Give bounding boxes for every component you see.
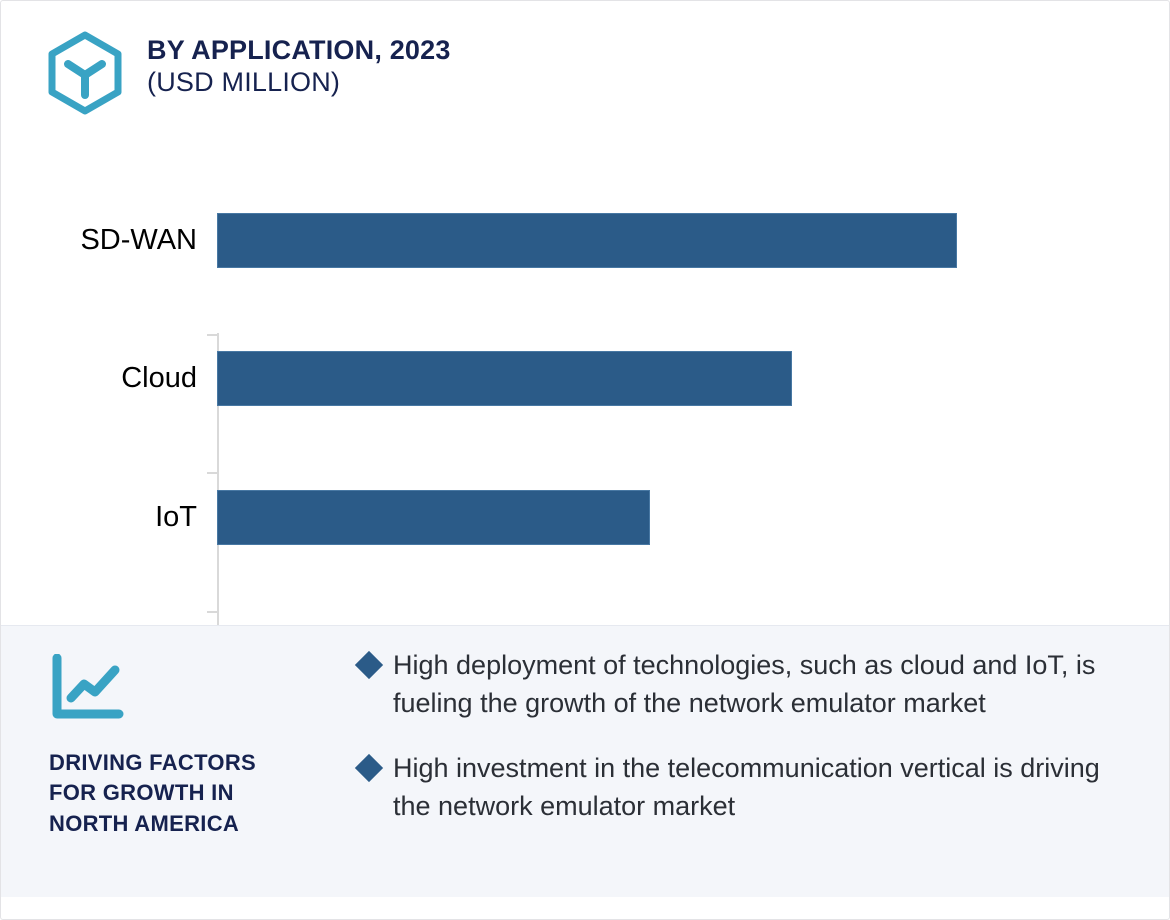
driving-factors-panel: DRIVING FACTORS FOR GROWTH IN NORTH AMER… xyxy=(1,625,1170,897)
panel-title-line-1: FOR GROWTH IN xyxy=(49,778,339,808)
list-item: High investment in the telecommunication… xyxy=(359,749,1131,826)
category-label-2: IoT xyxy=(1,501,197,534)
panel-title-line-0: DRIVING FACTORS xyxy=(49,748,339,778)
page-subtitle: (USD MILLION) xyxy=(147,67,451,99)
panel-title-line-2: NORTH AMERICA xyxy=(49,809,339,839)
list-item: High deployment of technologies, such as… xyxy=(359,646,1131,723)
axis-tick xyxy=(207,472,217,474)
category-label-1: Cloud xyxy=(1,362,197,395)
bar-cloud xyxy=(217,351,792,406)
category-label-0: SD-WAN xyxy=(1,224,197,257)
infographic-card: BY APPLICATION, 2023 (USD MILLION) SD-WA… xyxy=(0,0,1170,920)
panel-bullet-list: High deployment of technologies, such as… xyxy=(359,646,1131,825)
axis-tick xyxy=(207,334,217,336)
page-title: BY APPLICATION, 2023 xyxy=(147,35,451,67)
bar-iot xyxy=(217,490,650,545)
bullet-text: High investment in the telecommunication… xyxy=(393,749,1131,826)
bar-chart: SD-WAN Cloud IoT xyxy=(1,161,1170,613)
header-text-block: BY APPLICATION, 2023 (USD MILLION) xyxy=(147,29,451,99)
bar-sd-wan xyxy=(217,213,957,268)
bullet-text: High deployment of technologies, such as… xyxy=(393,646,1131,723)
hexagon-y-icon xyxy=(45,31,125,115)
line-chart-icon xyxy=(49,654,127,722)
axis-tick xyxy=(207,611,217,613)
diamond-bullet-icon xyxy=(355,754,383,782)
diamond-bullet-icon xyxy=(355,651,383,679)
panel-title: DRIVING FACTORS FOR GROWTH IN NORTH AMER… xyxy=(49,748,339,839)
header: BY APPLICATION, 2023 (USD MILLION) xyxy=(45,29,451,115)
panel-left-column: DRIVING FACTORS FOR GROWTH IN NORTH AMER… xyxy=(49,654,339,839)
